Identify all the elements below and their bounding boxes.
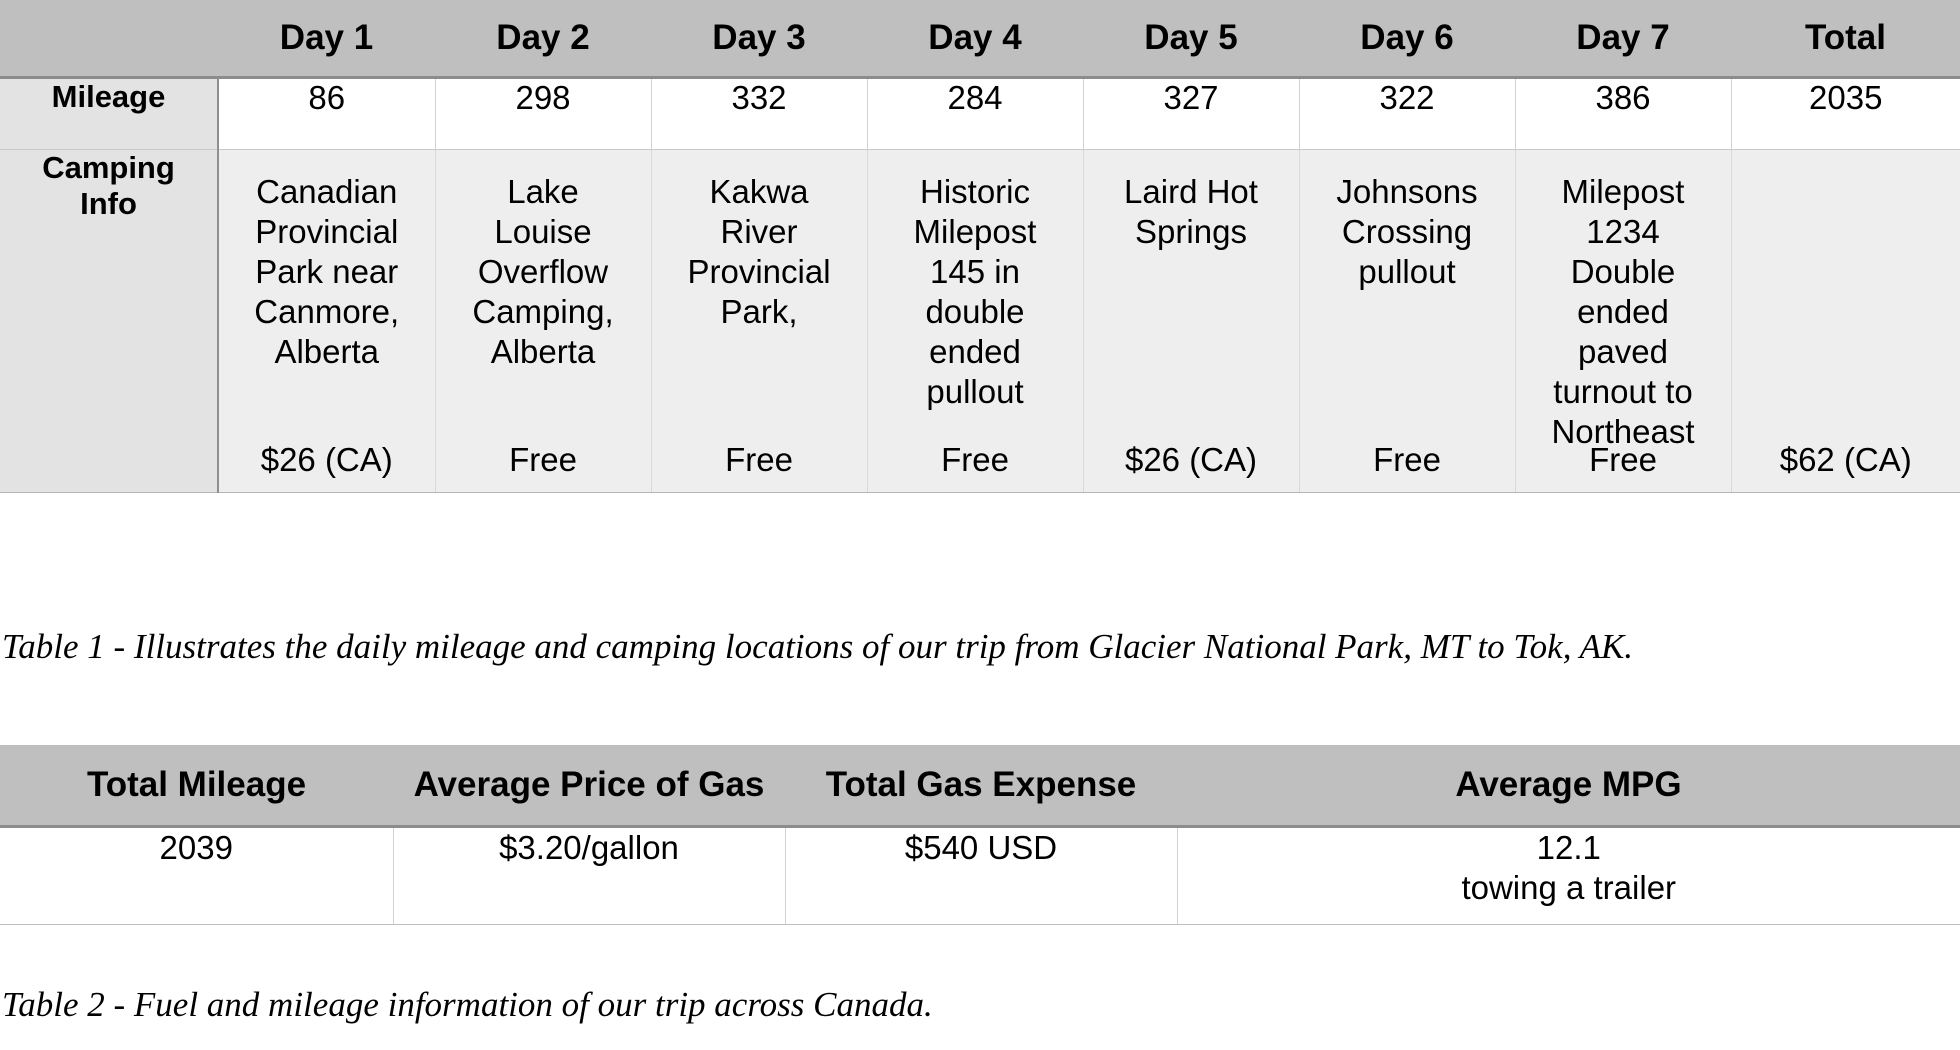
camping-total-description	[1732, 150, 1960, 172]
camping-day-4-description: Historic Milepost 145 in double ended pu…	[868, 150, 1083, 412]
camping-day-5: Laird Hot Springs $26 (CA)	[1083, 150, 1299, 493]
mileage-day-6: 322	[1299, 78, 1515, 150]
table1-header-day-5: Day 5	[1083, 0, 1299, 78]
camping-day-6: Johnsons Crossing pullout Free	[1299, 150, 1515, 493]
camping-day-2-price: Free	[436, 440, 651, 480]
camping-day-5-price: $26 (CA)	[1084, 440, 1299, 480]
camping-total: $62 (CA)	[1731, 150, 1960, 493]
table1-header-day-1: Day 1	[218, 0, 435, 78]
table2-header-row: Total Mileage Average Price of Gas Total…	[0, 745, 1960, 827]
table1-body: Mileage 86 298 332 284 327 322 386 2035 …	[0, 78, 1960, 493]
mileage-day-2: 298	[435, 78, 651, 150]
mileage-day-3: 332	[651, 78, 867, 150]
table1-header-day-7: Day 7	[1515, 0, 1731, 78]
table2-body: 2039 $3.20/gallon $540 USD 12.1 towing a…	[0, 827, 1960, 925]
table2-header: Total Mileage Average Price of Gas Total…	[0, 745, 1960, 827]
table1-header-day-2: Day 2	[435, 0, 651, 78]
table2-caption: Table 2 - Fuel and mileage information o…	[2, 985, 933, 1025]
mileage-day-4: 284	[867, 78, 1083, 150]
table1-header: Day 1 Day 2 Day 3 Day 4 Day 5 Day 6 Day …	[0, 0, 1960, 78]
camping-day-7: Milepost 1234 Double ended paved turnout…	[1515, 150, 1731, 493]
table2-header-average-price-of-gas: Average Price of Gas	[393, 745, 785, 827]
table1-header-corner	[0, 0, 218, 78]
table1-header-day-4: Day 4	[867, 0, 1083, 78]
camping-day-1-price: $26 (CA)	[219, 440, 435, 480]
camping-day-3: Kakwa River Provincial Park, Free	[651, 150, 867, 493]
table-row-camping-info: Camping Info Canadian Provincial Park ne…	[0, 150, 1960, 493]
camping-day-6-price: Free	[1300, 440, 1515, 480]
mileage-day-1: 86	[218, 78, 435, 150]
camping-day-3-description: Kakwa River Provincial Park,	[652, 150, 867, 332]
table1-header-row: Day 1 Day 2 Day 3 Day 4 Day 5 Day 6 Day …	[0, 0, 1960, 78]
fuel-and-mileage-table: Total Mileage Average Price of Gas Total…	[0, 745, 1960, 925]
table2-header-average-mpg: Average MPG	[1177, 745, 1960, 827]
table1-header-day-6: Day 6	[1299, 0, 1515, 78]
mileage-and-camping-table: Day 1 Day 2 Day 3 Day 4 Day 5 Day 6 Day …	[0, 0, 1960, 493]
mileage-day-5: 327	[1083, 78, 1299, 150]
camping-day-2: Lake Louise Overflow Camping, Alberta Fr…	[435, 150, 651, 493]
table2-header-total-mileage: Total Mileage	[0, 745, 393, 827]
camping-day-6-description: Johnsons Crossing pullout	[1300, 150, 1515, 292]
camping-day-2-description: Lake Louise Overflow Camping, Alberta	[436, 150, 651, 372]
mileage-total: 2035	[1731, 78, 1960, 150]
camping-day-4-price: Free	[868, 440, 1083, 480]
mileage-day-7: 386	[1515, 78, 1731, 150]
camping-total-price: $62 (CA)	[1732, 440, 1960, 480]
table-row-mileage: Mileage 86 298 332 284 327 322 386 2035	[0, 78, 1960, 150]
table-row: 2039 $3.20/gallon $540 USD 12.1 towing a…	[0, 827, 1960, 925]
document-page: Day 1 Day 2 Day 3 Day 4 Day 5 Day 6 Day …	[0, 0, 1960, 1050]
camping-day-4: Historic Milepost 145 in double ended pu…	[867, 150, 1083, 493]
table1-caption: Table 1 - Illustrates the daily mileage …	[2, 627, 1633, 667]
total-gas-expense-value: $540 USD	[785, 827, 1177, 925]
average-price-of-gas-value: $3.20/gallon	[393, 827, 785, 925]
row-label-camping-info: Camping Info	[0, 150, 218, 493]
camping-day-7-price: Free	[1516, 440, 1731, 480]
camping-day-3-price: Free	[652, 440, 867, 480]
camping-day-7-description: Milepost 1234 Double ended paved turnout…	[1516, 150, 1731, 451]
table1-header-total: Total	[1731, 0, 1960, 78]
total-mileage-value: 2039	[0, 827, 393, 925]
table2-header-total-gas-expense: Total Gas Expense	[785, 745, 1177, 827]
average-mpg-value: 12.1 towing a trailer	[1177, 827, 1960, 925]
table1-header-day-3: Day 3	[651, 0, 867, 78]
camping-day-1-description: Canadian Provincial Park near Canmore, A…	[219, 150, 435, 372]
camping-day-5-description: Laird Hot Springs	[1084, 150, 1299, 252]
row-label-mileage: Mileage	[0, 78, 218, 150]
camping-day-1: Canadian Provincial Park near Canmore, A…	[218, 150, 435, 493]
